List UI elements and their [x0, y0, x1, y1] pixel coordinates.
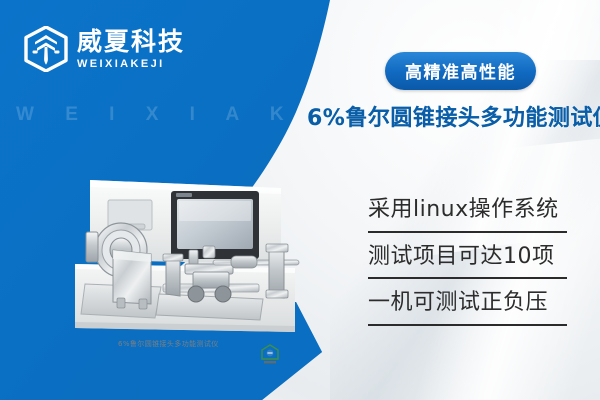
feature-divider [368, 231, 567, 233]
hero-badge: 高精准高性能 [385, 52, 536, 90]
feature-divider [368, 324, 567, 326]
feature-item-1: 采用linux操作系统 [368, 196, 568, 233]
brand-logo: 威夏科技 WEIXIAKEJI [24, 26, 185, 72]
brand-name-cn: 威夏科技 [77, 29, 185, 54]
feature-label: 采用linux操作系统 [368, 196, 568, 228]
feature-list: 采用linux操作系统 测试项目可达10项 一机可测试正负压 [368, 196, 568, 336]
hero-title: 6%鲁尔圆锥接头多功能测试仪 [307, 100, 595, 132]
feature-label: 一机可测试正负压 [368, 289, 568, 321]
brand-name-en: WEIXIAKEJI [77, 59, 185, 70]
feature-divider [368, 277, 567, 279]
machine-panel-caption: 6%鲁尔圆锥接头多功能测试仪 [118, 339, 219, 349]
hexagon-shield-icon [24, 26, 68, 72]
product-banner: W E I X I A K E J I 威夏科技 WEIXIAKEJI 高精准高… [0, 0, 600, 400]
machine-clamp-left [163, 254, 183, 296]
feature-item-3: 一机可测试正负压 [368, 289, 568, 326]
feature-label: 测试项目可达10项 [368, 243, 568, 275]
machine-carriage-rail [156, 294, 263, 320]
feature-item-2: 测试项目可达10项 [368, 243, 568, 280]
company-seal-icon [259, 343, 281, 365]
